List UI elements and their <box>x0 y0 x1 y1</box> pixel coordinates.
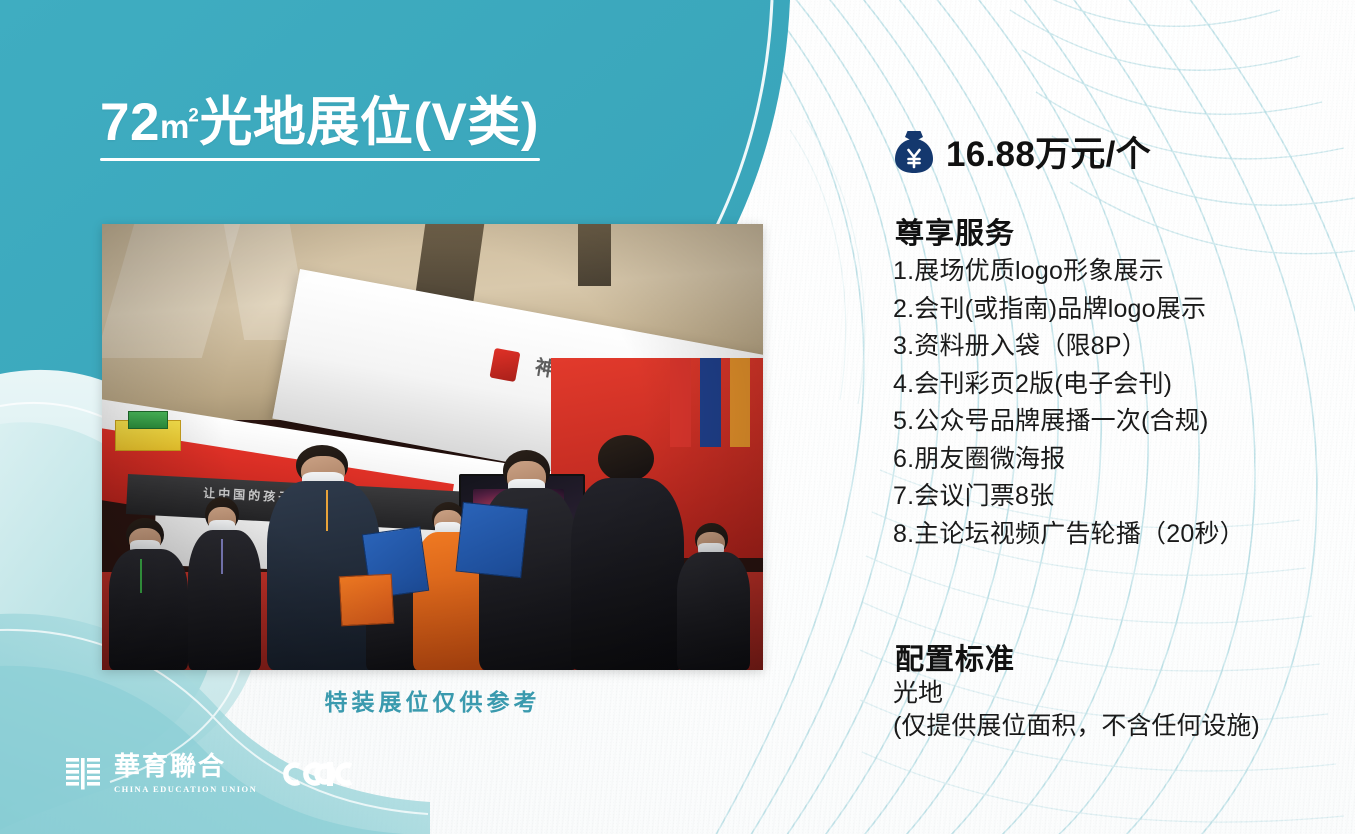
config-body: 光地 (仅提供展位面积，不含任何设施) <box>893 677 1355 743</box>
right-content-column: 16.88万元/个 尊享服务 1.展场优质logo形象展示 2.会刊(或指南)品… <box>893 0 1355 834</box>
money-bag-icon <box>893 129 935 174</box>
photo-caption: 特装展位仅供参考 <box>102 683 763 717</box>
slide-title-block: 72m2光地展位(V类) <box>100 93 540 161</box>
list-item: 5.公众号品牌展播一次(合规) <box>893 403 1355 441</box>
services-list: 1.展场优质logo形象展示 2.会刊(或指南)品牌logo展示 3.资料册入袋… <box>893 253 1355 553</box>
slide-canvas: 72m2光地展位(V类) 神笔章法 让中国的孩子写好中国字 <box>0 0 1355 834</box>
title-area-number: 72 <box>100 93 160 152</box>
title-rest: 光地展位(V类) <box>199 93 539 152</box>
config-heading: 配置标准 <box>895 636 1015 678</box>
services-heading: 尊享服务 <box>895 210 1015 252</box>
config-line: 光地 <box>893 677 1355 710</box>
price-value: 16.88万元/个 <box>946 126 1151 177</box>
list-item: 6.朋友圈微海报 <box>893 441 1355 479</box>
logo-english-name: CHINA EDUCATION UNION <box>114 784 257 794</box>
title-unit-superscript: 2 <box>188 105 199 126</box>
price-row: 16.88万元/个 <box>893 126 1151 177</box>
list-item: 4.会刊彩页2版(电子会刊) <box>893 366 1355 404</box>
ccic-logo <box>283 759 357 789</box>
config-line: (仅提供展位面积，不含任何设施) <box>893 710 1355 743</box>
list-item: 7.会议门票8张 <box>893 478 1355 516</box>
photo-vignette <box>102 224 763 670</box>
booth-photo: 神笔章法 让中国的孩子写好中国字 <box>102 224 763 670</box>
list-item: 2.会刊(或指南)品牌logo展示 <box>893 291 1355 329</box>
list-item: 1.展场优质logo形象展示 <box>893 253 1355 291</box>
logo-chinese-name: 華育聯合 <box>114 754 257 781</box>
footer-logo: 華育聯合 CHINA EDUCATION UNION <box>66 754 357 794</box>
title-underline <box>100 158 540 161</box>
booth-photo-content: 神笔章法 让中国的孩子写好中国字 <box>102 224 763 670</box>
logo-text-block: 華育聯合 CHINA EDUCATION UNION <box>114 754 257 794</box>
page-title: 72m2光地展位(V类) <box>100 93 540 152</box>
title-unit-m: m <box>160 108 188 145</box>
list-item: 3.资料册入袋（限8P） <box>893 328 1355 366</box>
h-bars-icon <box>66 757 102 791</box>
list-item: 8.主论坛视频广告轮播（20秒） <box>893 516 1355 554</box>
